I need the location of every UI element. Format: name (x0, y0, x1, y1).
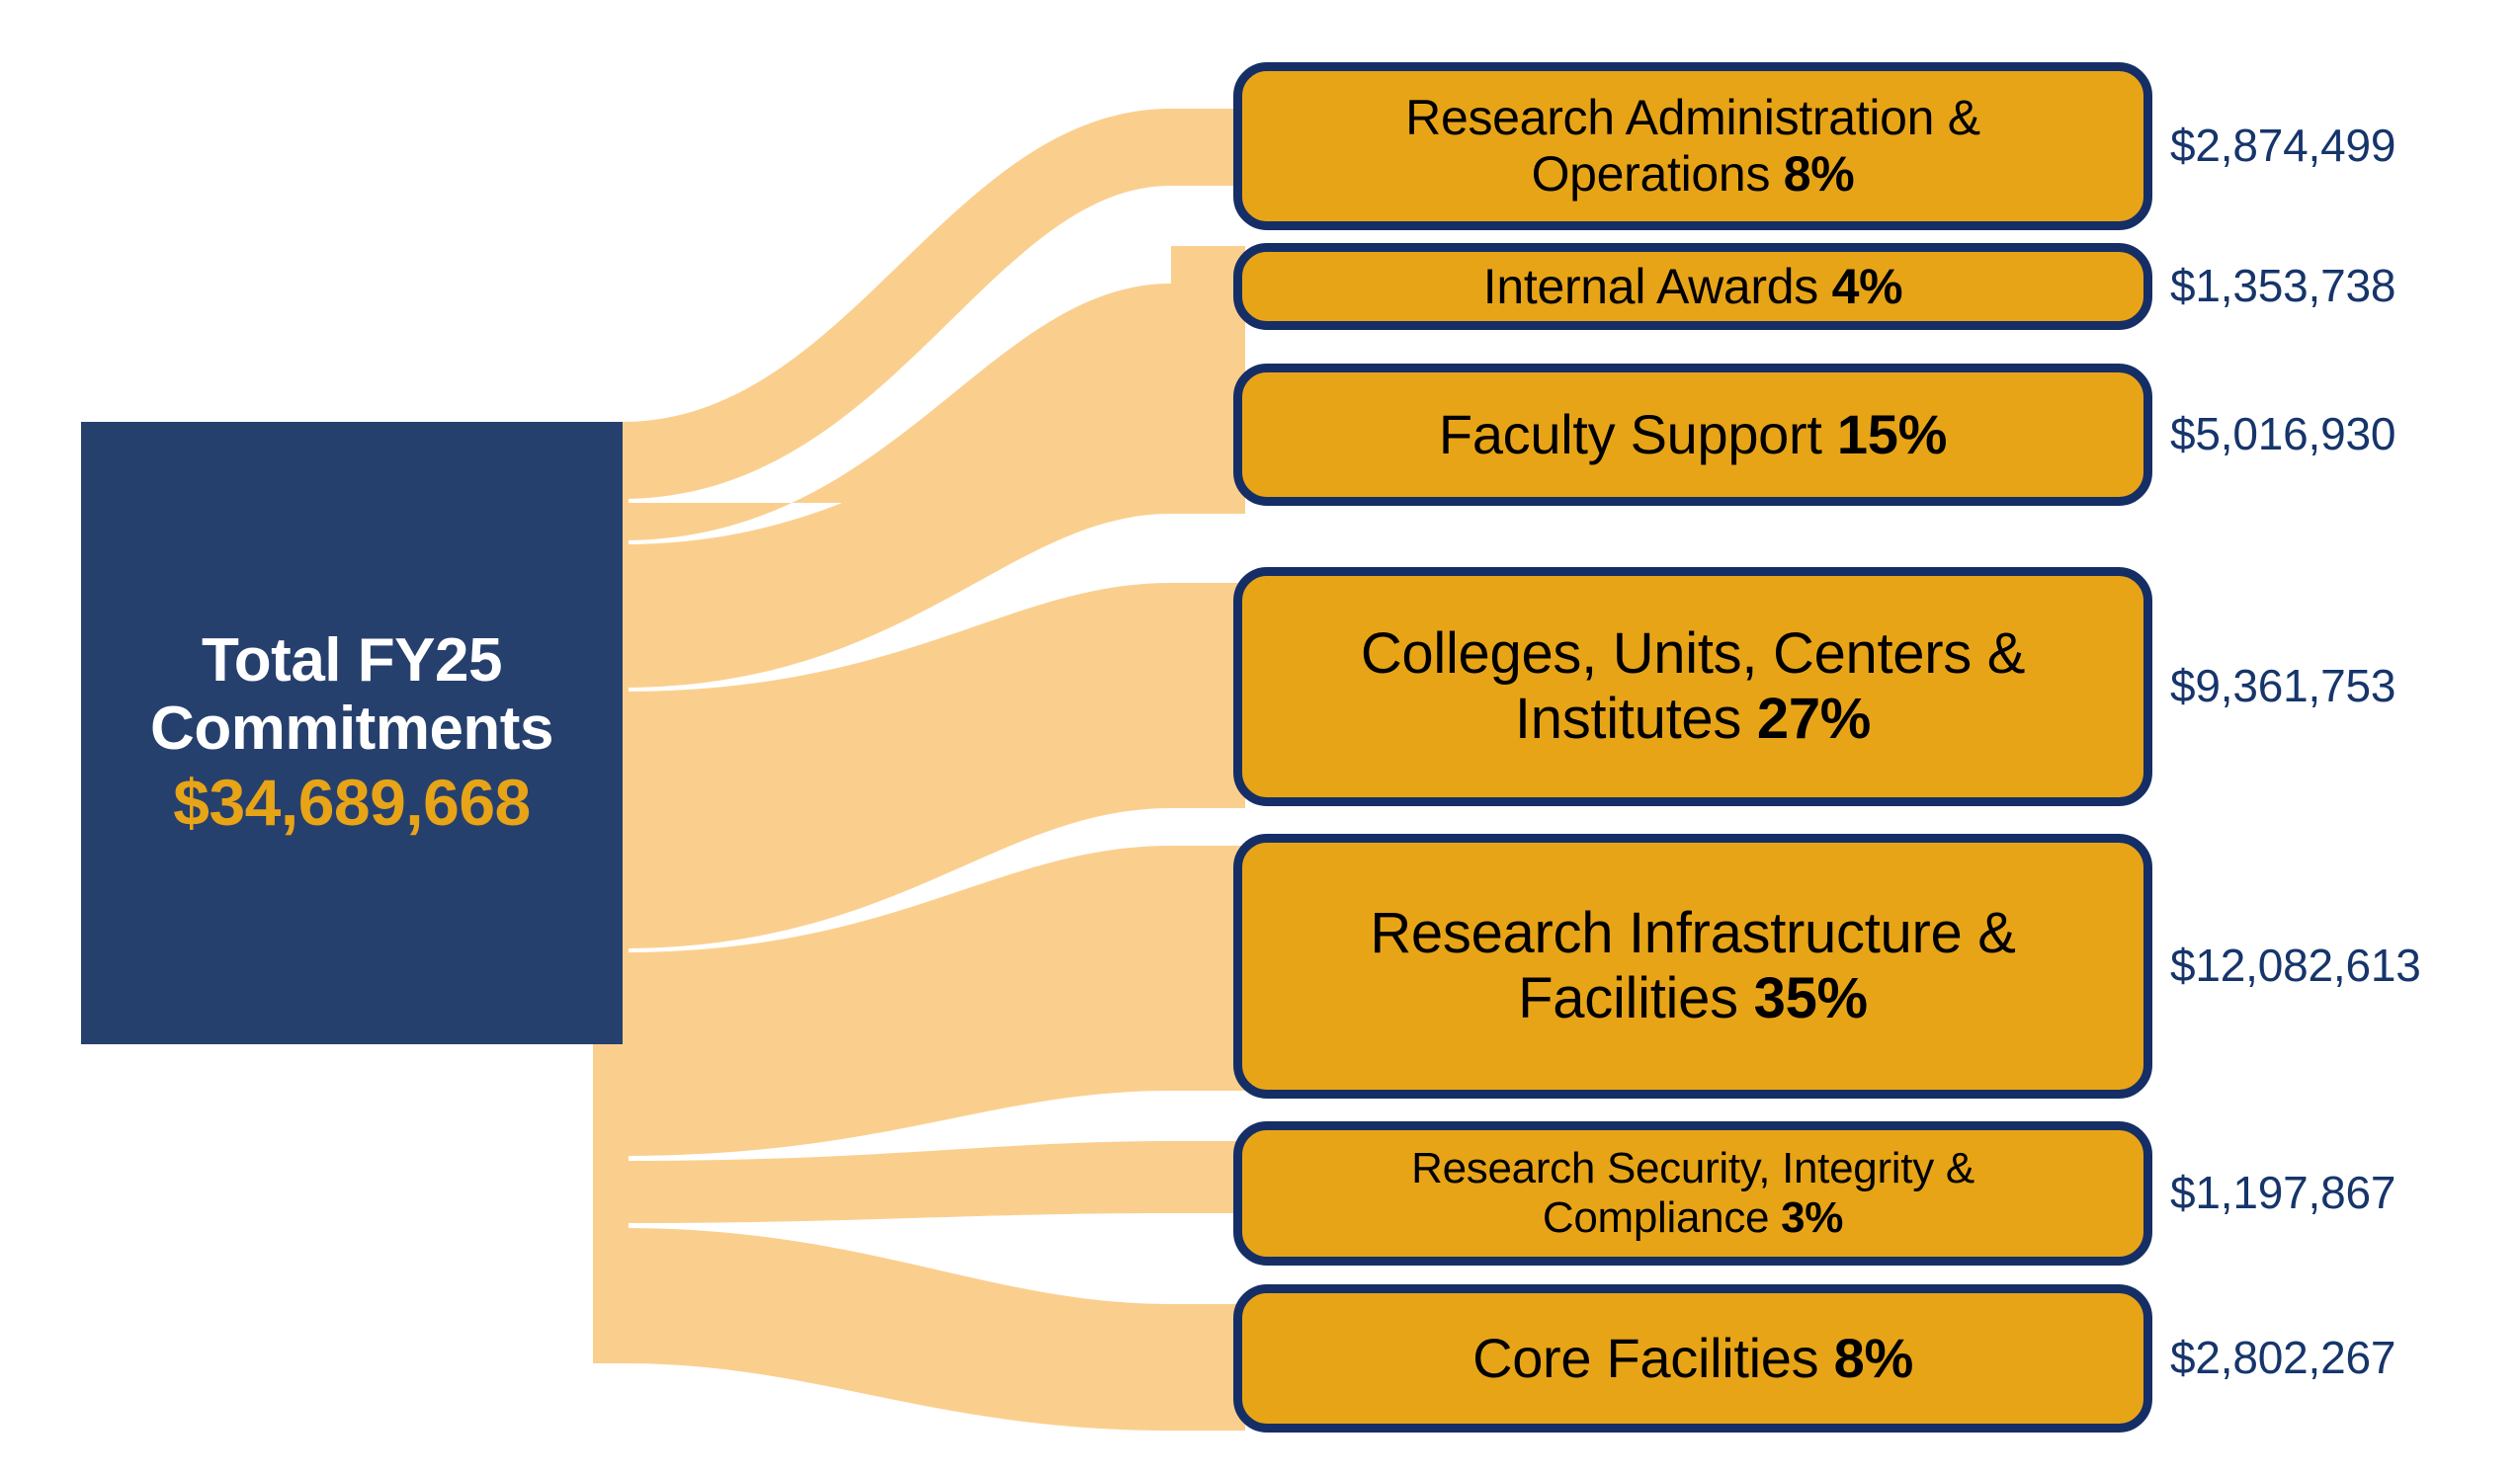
dest-label-line2: Institutes (1515, 687, 1741, 751)
dest-node-core-facilities[interactable]: Core Facilities 8% (1233, 1284, 2152, 1433)
ribbon-research-security-integrity-compliance (623, 1141, 1245, 1223)
dest-label-percent: 8% (1834, 1327, 1913, 1389)
dest-node-faculty-support[interactable]: Faculty Support 15% (1233, 364, 2152, 506)
dest-node-label-colleges-units-centers-institutes: Colleges, Units, Centers &Institutes 27% (1361, 621, 2025, 752)
dest-node-label-research-administration-operations: Research Administration &Operations 8% (1405, 90, 1980, 203)
value-label-research-administration-operations: $2,874,499 (2170, 119, 2395, 172)
dest-label-percent: 27% (1757, 687, 1871, 751)
dest-node-research-infrastructure-facilities[interactable]: Research Infrastructure &Facilities 35% (1233, 834, 2152, 1099)
dest-node-label-core-facilities: Core Facilities 8% (1472, 1327, 1913, 1390)
dest-label-line1: Research Security, Integrity & (1411, 1144, 1974, 1192)
sankey-diagram: Total FY25 Commitments $34,689,668 Resea… (0, 0, 2520, 1475)
dest-node-label-faculty-support: Faculty Support 15% (1439, 403, 1947, 466)
value-label-core-facilities: $2,802,267 (2170, 1331, 2395, 1384)
source-title-line1: Total FY25 (202, 626, 502, 695)
dest-label-percent: 4% (1832, 259, 1903, 314)
source-title: Total FY25 Commitments (150, 626, 553, 764)
source-amount: $34,689,668 (173, 767, 531, 840)
dest-node-colleges-units-centers-institutes[interactable]: Colleges, Units, Centers &Institutes 27% (1233, 567, 2152, 806)
value-label-internal-awards: $1,353,738 (2170, 259, 2395, 312)
dest-node-internal-awards[interactable]: Internal Awards 4% (1233, 243, 2152, 330)
dest-label-percent: 3% (1781, 1193, 1843, 1242)
dest-label-line1: Internal Awards (1483, 259, 1818, 314)
value-label-faculty-support: $5,016,930 (2170, 407, 2395, 460)
dest-label-line2: Compliance (1543, 1193, 1769, 1242)
ribbon-core-facilities (623, 1228, 1245, 1431)
dest-node-research-security-integrity-compliance[interactable]: Research Security, Integrity &Compliance… (1233, 1121, 2152, 1266)
dest-node-research-administration-operations[interactable]: Research Administration &Operations 8% (1233, 62, 2152, 230)
dest-label-line2: Facilities (1518, 966, 1738, 1030)
dest-label-line1: Faculty Support (1439, 403, 1837, 465)
dest-node-label-internal-awards: Internal Awards 4% (1483, 259, 1903, 315)
value-label-colleges-units-centers-institutes: $9,361,753 (2170, 659, 2395, 712)
dest-label-percent: 15% (1837, 403, 1947, 465)
source-title-line2: Commitments (150, 695, 553, 763)
source-node-total-commitments[interactable]: Total FY25 Commitments $34,689,668 (81, 422, 623, 1044)
dest-node-label-research-security-integrity-compliance: Research Security, Integrity &Compliance… (1411, 1144, 1974, 1243)
dest-label-percent: 35% (1754, 966, 1868, 1030)
value-label-research-infrastructure-facilities: $12,082,613 (2170, 939, 2421, 992)
dest-label-line1: Core Facilities (1472, 1327, 1818, 1389)
dest-label-percent: 8% (1784, 146, 1855, 202)
dest-label-line1: Research Administration & (1405, 90, 1980, 145)
dest-label-line1: Colleges, Units, Centers & (1361, 621, 2025, 686)
value-label-research-security-integrity-compliance: $1,197,867 (2170, 1166, 2395, 1219)
dest-node-label-research-infrastructure-facilities: Research Infrastructure &Facilities 35% (1370, 901, 2015, 1031)
dest-label-line1: Research Infrastructure & (1370, 901, 2015, 965)
dest-label-line2: Operations (1532, 146, 1771, 202)
